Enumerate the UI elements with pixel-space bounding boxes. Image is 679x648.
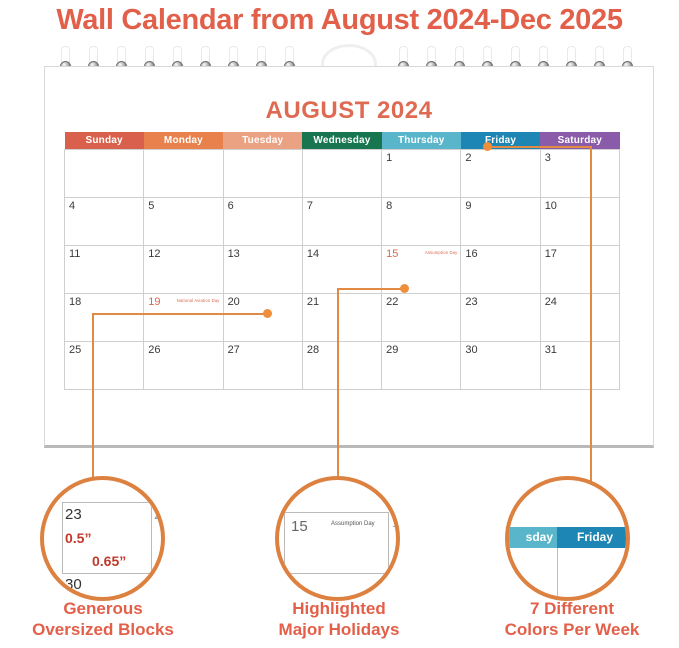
callout-caption-2: Highlighted Major Holidays (236, 598, 442, 640)
calendar-day-cell[interactable]: 27 (223, 341, 302, 389)
spiral-ring-icon (228, 46, 237, 68)
sample-holiday-label: Assumption Day (331, 521, 375, 527)
day-number: 29 (386, 344, 398, 356)
holiday-label: National Aviation Day (177, 298, 220, 303)
caption-line-2: Oversized Blocks (0, 619, 206, 640)
calendar-day-cell[interactable]: 5 (144, 197, 223, 245)
holiday-label: Assumption Day (425, 250, 458, 255)
calendar-day-cell[interactable]: 7 (302, 197, 381, 245)
calendar-day-cell[interactable]: 24 (540, 293, 619, 341)
sample-column-divider (557, 548, 558, 601)
calendar-day-cell[interactable]: 13 (223, 245, 302, 293)
weekday-header-sunday: Sunday (65, 132, 144, 149)
spiral-ring-icon (566, 46, 575, 68)
calendar-week-row: 45678910 (65, 197, 620, 245)
calendar-day-cell[interactable]: 15Assumption Day (382, 245, 461, 293)
day-number: 22 (386, 296, 398, 308)
day-number: 2 (465, 152, 471, 164)
caption-line-1: Generous (0, 598, 206, 619)
callout-caption-1: Generous Oversized Blocks (0, 598, 206, 640)
spiral-ring-icon (60, 46, 69, 68)
caption-line-2: Colors Per Week (465, 619, 679, 640)
calendar-week-row: 123 (65, 149, 620, 197)
day-number: 19 (148, 296, 160, 308)
calendar-week-row: 1112131415Assumption Day1617 (65, 245, 620, 293)
leader-dot (263, 309, 272, 318)
calendar-day-cell[interactable]: 26 (144, 341, 223, 389)
calendar-empty-cell (302, 149, 381, 197)
spiral-ring-icon (116, 46, 125, 68)
sample-edge-date: 1 (392, 518, 398, 530)
block-width-label: 0.65” (92, 553, 126, 569)
calendar-day-cell[interactable]: 23 (461, 293, 540, 341)
calendar-day-cell[interactable]: 18 (65, 293, 144, 341)
spiral-ring-icon (482, 46, 491, 68)
day-number: 15 (386, 248, 398, 260)
day-number: 24 (545, 296, 557, 308)
spiral-ring-icon (622, 46, 631, 68)
spiral-ring-icon (256, 46, 265, 68)
day-number: 20 (228, 296, 240, 308)
weekday-header-monday: Monday (144, 132, 223, 149)
calendar-day-cell[interactable]: 12 (144, 245, 223, 293)
sample-header-thursday-label: sday (509, 527, 557, 548)
day-number: 8 (386, 200, 392, 212)
calendar-empty-cell (65, 149, 144, 197)
callout-oversized-blocks: 23 2 30 0.5” 0.65” (40, 476, 165, 601)
calendar-grid: SundayMondayTuesdayWednesdayThursdayFrid… (64, 132, 620, 390)
calendar-empty-cell (144, 149, 223, 197)
calendar-day-cell[interactable]: 6 (223, 197, 302, 245)
day-number: 31 (545, 344, 557, 356)
day-number: 17 (545, 248, 557, 260)
calendar-day-cell[interactable]: 1 (382, 149, 461, 197)
weekday-header-wednesday: Wednesday (302, 132, 381, 149)
calendar-day-cell[interactable]: 16 (461, 245, 540, 293)
weekday-header-thursday: Thursday (382, 132, 461, 149)
calendar-page: AUGUST 2024 SundayMondayTuesdayWednesday… (44, 66, 654, 448)
month-title: AUGUST 2024 (45, 97, 653, 125)
leader-line-h (92, 313, 268, 315)
day-number: 5 (148, 200, 154, 212)
day-number: 4 (69, 200, 75, 212)
spiral-ring-icon (454, 46, 463, 68)
spiral-ring-icon (88, 46, 97, 68)
sample-header-friday-label: Friday (557, 527, 630, 548)
leader-line-h (488, 146, 592, 148)
sample-date-30: 30 (65, 576, 82, 593)
spiral-ring-icon (172, 46, 181, 68)
callout-highlighted-holidays: 15 Assumption Day 1 (275, 476, 400, 601)
leader-dot (483, 142, 492, 151)
caption-line-2: Major Holidays (236, 619, 442, 640)
day-number: 18 (69, 296, 81, 308)
day-number: 25 (69, 344, 81, 356)
calendar-day-cell[interactable]: 17 (540, 245, 619, 293)
calendar-day-cell[interactable]: 14 (302, 245, 381, 293)
calendar-day-cell[interactable]: 4 (65, 197, 144, 245)
weekday-header-tuesday: Tuesday (223, 132, 302, 149)
calendar-day-cell[interactable]: 21 (302, 293, 381, 341)
calendar-day-cell[interactable]: 9 (461, 197, 540, 245)
day-number: 14 (307, 248, 319, 260)
caption-line-1: 7 Different (465, 598, 679, 619)
day-number: 23 (465, 296, 477, 308)
page-title: Wall Calendar from August 2024-Dec 2025 (0, 0, 679, 37)
day-number: 6 (228, 200, 234, 212)
calendar-week-row: 1819National Aviation Day2021222324 (65, 293, 620, 341)
day-number: 10 (545, 200, 557, 212)
calendar-day-cell[interactable]: 10 (540, 197, 619, 245)
leader-line-v (590, 146, 592, 505)
calendar-day-cell[interactable]: 28 (302, 341, 381, 389)
day-number: 16 (465, 248, 477, 260)
spiral-ring-icon (510, 46, 519, 68)
callout-seven-colors: sday Friday (505, 476, 630, 601)
day-number: 30 (465, 344, 477, 356)
caption-line-1: Highlighted (236, 598, 442, 619)
spiral-ring-icon (594, 46, 603, 68)
day-number: 21 (307, 296, 319, 308)
spiral-ring-icon (200, 46, 209, 68)
day-number: 13 (228, 248, 240, 260)
day-number: 26 (148, 344, 160, 356)
calendar-day-cell[interactable]: 30 (461, 341, 540, 389)
sample-date-15: 15 (291, 518, 308, 535)
sample-date-24: 2 (154, 506, 162, 523)
day-number: 12 (148, 248, 160, 260)
spiral-ring-icon (538, 46, 547, 68)
day-number: 28 (307, 344, 319, 356)
leader-line-v (337, 288, 339, 505)
sample-header-thursday: sday (509, 527, 557, 548)
calendar-day-cell[interactable]: 19National Aviation Day (144, 293, 223, 341)
calendar-day-cell[interactable]: 25 (65, 341, 144, 389)
sample-header-friday: Friday (557, 527, 630, 548)
calendar-day-cell[interactable]: 8 (382, 197, 461, 245)
calendar-empty-cell (223, 149, 302, 197)
calendar-day-cell[interactable]: 20 (223, 293, 302, 341)
sample-date-23: 23 (65, 506, 82, 523)
spiral-ring-icon (284, 46, 293, 68)
day-number: 27 (228, 344, 240, 356)
leader-line-h (337, 288, 405, 290)
day-number: 11 (69, 248, 80, 260)
day-number: 1 (386, 152, 392, 164)
calendar-day-cell[interactable]: 3 (540, 149, 619, 197)
calendar-day-cell[interactable]: 11 (65, 245, 144, 293)
calendar-week-row: 25262728293031 (65, 341, 620, 389)
calendar-day-cell[interactable]: 31 (540, 341, 619, 389)
callout-caption-3: 7 Different Colors Per Week (465, 598, 679, 640)
spiral-ring-icon (144, 46, 153, 68)
day-number: 9 (465, 200, 471, 212)
spiral-ring-icon (398, 46, 407, 68)
calendar-day-cell[interactable]: 29 (382, 341, 461, 389)
day-number: 3 (545, 152, 551, 164)
leader-dot (400, 284, 409, 293)
day-number: 7 (307, 200, 313, 212)
calendar-day-cell[interactable]: 2 (461, 149, 540, 197)
spiral-ring-icon (426, 46, 435, 68)
block-height-label: 0.5” (65, 530, 91, 546)
calendar-day-cell[interactable]: 22 (382, 293, 461, 341)
